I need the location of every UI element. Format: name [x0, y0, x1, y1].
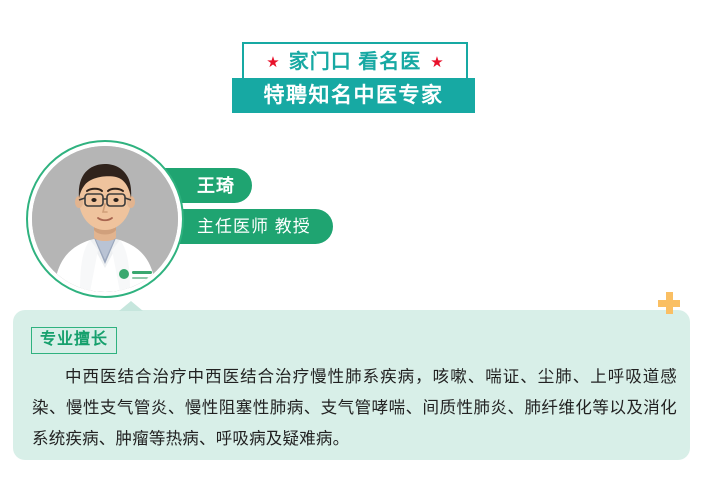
title-banner-text: 特聘知名中医专家: [264, 85, 444, 106]
star-right-icon: ★: [430, 55, 443, 70]
expertise-label-text: 专业擅长: [40, 331, 108, 348]
doctor-title: 主任医师 教授: [197, 218, 311, 235]
expertise-label-box: 专业擅长: [31, 327, 117, 354]
doctor-block: 王琦 主任医师 教授: [0, 130, 702, 305]
doctor-portrait-photo: [32, 146, 178, 292]
panel-pointer-triangle: [119, 301, 143, 311]
header-block: ★ 家门口 看名医 ★ 特聘知名中医专家: [0, 0, 702, 125]
doctor-name: 王琦: [197, 177, 235, 195]
doctor-profile-card: ★ 家门口 看名医 ★ 特聘知名中医专家 王琦 主任医师 教授: [0, 0, 702, 490]
avatar: [26, 140, 184, 298]
title-banner: 特聘知名中医专家: [232, 78, 475, 113]
expertise-panel: 专业擅长 中西医结合治疗中西医结合治疗慢性肺系疾病，咳嗽、喘证、尘肺、上呼吸道感…: [13, 310, 690, 460]
plus-icon: [658, 292, 680, 314]
slogan-box: ★ 家门口 看名医 ★: [242, 42, 468, 82]
slogan-text: 家门口 看名医: [289, 52, 422, 72]
star-left-icon: ★: [266, 55, 279, 70]
expertise-body-text: 中西医结合治疗中西医结合治疗慢性肺系疾病，咳嗽、喘证、尘肺、上呼吸道感染、慢性支…: [32, 362, 677, 455]
doctor-portrait-illustration: [32, 146, 178, 292]
